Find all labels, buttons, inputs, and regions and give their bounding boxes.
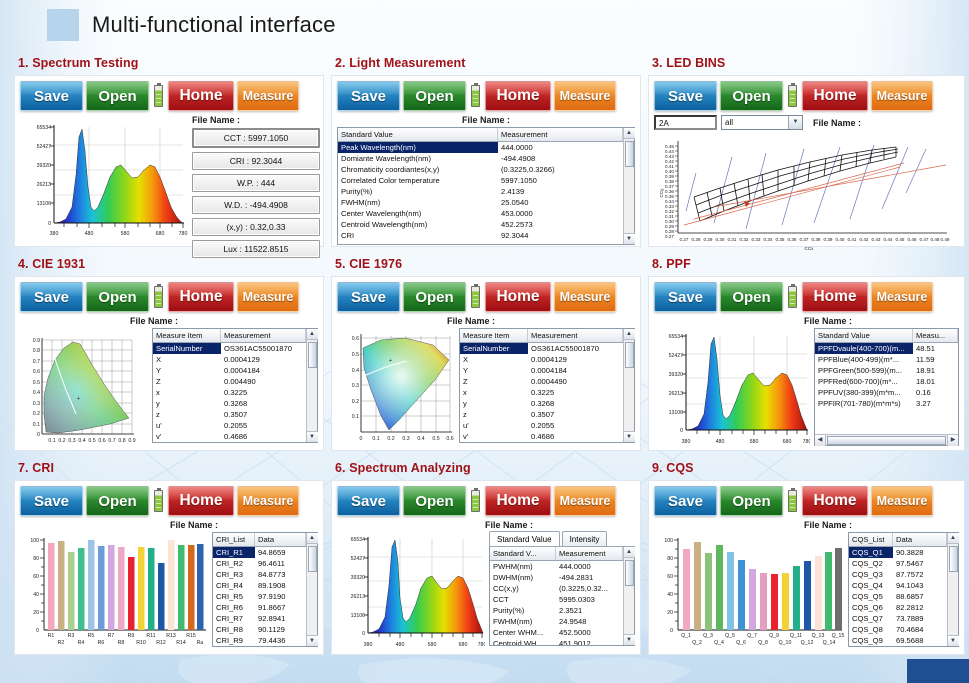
open-button[interactable]: Open <box>86 486 149 516</box>
table-header: Measure Item Measurement <box>153 329 306 343</box>
table-row[interactable]: v'0.4686 <box>460 431 623 442</box>
table-row[interactable]: PPFRed(600-700)(m*...18.01 <box>815 376 958 387</box>
table-header: Standard Value Measu... <box>815 329 958 343</box>
svg-text:0.3: 0.3 <box>402 436 409 442</box>
home-button[interactable]: Home <box>168 282 234 312</box>
scroll-down-icon[interactable]: ▼ <box>948 635 959 646</box>
corner-accent-block <box>907 659 969 683</box>
svg-text:Q_3: Q_3 <box>703 633 713 639</box>
scroll-left-icon[interactable]: ◀ <box>815 435 826 446</box>
svg-text:Q_2: Q_2 <box>692 640 702 646</box>
scroll-up-icon[interactable]: ▲ <box>624 128 635 139</box>
panel-title: 2. Light Measurement <box>335 56 641 70</box>
chevron-down-icon[interactable]: ▼ <box>788 116 802 129</box>
save-button[interactable]: Save <box>337 81 400 111</box>
svg-text:0.1: 0.1 <box>372 436 379 442</box>
tab-intensity[interactable]: Intensity <box>562 531 608 546</box>
table-row[interactable]: DWHM(nm)-494.2831 <box>490 572 623 583</box>
svg-text:26213: 26213 <box>669 391 684 397</box>
table-body: PPFDvaule(400-700)(m...48.51 PPFBlue(400… <box>815 343 958 434</box>
table-scrollbar[interactable]: ▲ ▼ <box>623 329 634 442</box>
svg-text:0: 0 <box>362 631 365 637</box>
table-row[interactable]: Peak Wavelength(nm)444.0000 <box>338 142 623 153</box>
scrollbar-thumb[interactable] <box>625 141 634 167</box>
home-button[interactable]: Home <box>802 486 868 516</box>
svg-text:0.34: 0.34 <box>764 237 773 242</box>
svg-text:R9: R9 <box>128 633 135 639</box>
svg-text:0.5: 0.5 <box>432 436 439 442</box>
svg-text:R6: R6 <box>98 640 105 646</box>
cie1931-table[interactable]: Measure Item Measurement SerialNumberOS3… <box>152 328 318 443</box>
table-row[interactable]: y0.3268 <box>153 398 306 409</box>
open-button[interactable]: Open <box>86 282 149 312</box>
svg-text:0.4: 0.4 <box>417 436 424 442</box>
file-name-label: File Name : <box>192 115 320 125</box>
svg-text:R13: R13 <box>166 633 176 639</box>
table-header: Standard Value Measurement <box>338 128 623 142</box>
table-header: CRI_List Data <box>213 533 306 547</box>
cqs-table[interactable]: CQS_List Data CQS_Q190.3828 CQS_Q297.546… <box>848 532 959 647</box>
svg-text:R11: R11 <box>146 633 155 639</box>
svg-text:0.41: 0.41 <box>848 237 857 242</box>
open-button[interactable]: Open <box>720 486 783 516</box>
table-row[interactable]: FWHM(nm)25.0540 <box>338 197 623 208</box>
save-button[interactable]: Save <box>20 486 83 516</box>
button-bar: Save Open Home Measure <box>654 282 959 312</box>
svg-text:0: 0 <box>36 628 39 634</box>
svg-text:0.48: 0.48 <box>931 237 940 242</box>
open-button[interactable]: Open <box>720 282 783 312</box>
svg-text:13106: 13106 <box>669 410 684 416</box>
table-row[interactable]: Y0.0004184 <box>153 365 306 376</box>
svg-text:580: 580 <box>750 439 759 445</box>
svg-text:0.37: 0.37 <box>800 237 809 242</box>
table-row[interactable]: Purity(%)2.3521 <box>490 605 623 616</box>
table-body: SerialNumberOS361AC55001870 X0.0004129 Y… <box>460 343 623 442</box>
scroll-right-icon[interactable]: ▶ <box>947 435 958 446</box>
svg-text:39320: 39320 <box>37 163 52 169</box>
button-bar: Save Open Home Measure <box>20 486 318 516</box>
svg-text:Q_9: Q_9 <box>769 633 779 639</box>
table-row[interactable]: Centroid Wavelength(nm)452.2573 <box>338 219 623 230</box>
readout-cri: CRI : 92.3044 <box>192 152 320 170</box>
table-scrollbar[interactable]: ▲ ▼ <box>947 533 958 646</box>
table-row[interactable]: CRI_R792.8941 <box>213 613 306 624</box>
svg-text:0: 0 <box>360 436 363 442</box>
svg-text:0.3: 0.3 <box>68 438 75 444</box>
panel-title: 1. Spectrum Testing <box>18 56 324 70</box>
scroll-down-icon[interactable]: ▼ <box>624 233 635 244</box>
svg-text:0.1: 0.1 <box>33 422 40 428</box>
scroll-down-icon[interactable]: ▼ <box>624 634 635 645</box>
save-button[interactable]: Save <box>337 282 400 312</box>
table-row[interactable]: CQS_Q773.7889 <box>849 613 947 624</box>
file-name-label: File Name : <box>804 316 959 326</box>
svg-text:R8: R8 <box>118 640 125 646</box>
svg-text:R1: R1 <box>48 633 55 639</box>
svg-text:0.2: 0.2 <box>33 411 40 417</box>
home-button[interactable]: Home <box>485 486 551 516</box>
scroll-down-icon[interactable]: ▼ <box>307 635 318 646</box>
panel-cie-1931: 4. CIE 1931 Save Open Home Measure File … <box>14 251 324 451</box>
svg-text:40: 40 <box>33 592 39 598</box>
svg-text:0.5: 0.5 <box>33 380 40 386</box>
scrollbar-thumb[interactable] <box>625 560 634 586</box>
save-button[interactable]: Save <box>654 486 717 516</box>
svg-text:13106: 13106 <box>351 613 366 619</box>
svg-text:0.29: 0.29 <box>704 237 713 242</box>
table-row[interactable]: Domiante Wavelength(nm)-494.4908 <box>338 153 623 164</box>
svg-text:480: 480 <box>716 439 725 445</box>
svg-text:80: 80 <box>33 556 39 562</box>
home-button[interactable]: Home <box>485 81 551 111</box>
svg-text:52427: 52427 <box>351 556 366 562</box>
column-header-cri-list: CRI_List <box>213 533 255 546</box>
ppf-table[interactable]: Standard Value Measu... PPFDvaule(400-70… <box>814 328 959 446</box>
open-button[interactable]: Open <box>86 81 149 111</box>
scrollbar-thumb[interactable] <box>827 436 946 445</box>
column-header-cqs-list: CQS_List <box>849 533 893 546</box>
table-body: CRI_R194.8659 CRI_R296.4611 CRI_R384.877… <box>213 547 306 646</box>
svg-text:52427: 52427 <box>37 144 52 150</box>
button-bar: Save Open Home Measure <box>337 282 635 312</box>
table-row[interactable]: CRI_R384.8773 <box>213 569 306 580</box>
table-row[interactable]: CCT5995.0303 <box>490 594 623 605</box>
tab-bar: Standard Value Intensity <box>489 531 635 546</box>
table-header: Standard V... Measurement <box>490 547 623 561</box>
svg-text:Q_10: Q_10 <box>779 640 792 646</box>
svg-text:Q_1: Q_1 <box>681 633 691 639</box>
table-row[interactable]: CQS_Q870.4684 <box>849 624 947 635</box>
table-row[interactable]: X0.0004129 <box>460 354 623 365</box>
svg-text:0.1: 0.1 <box>48 438 55 444</box>
table-row[interactable]: CRI_R194.8659 <box>213 547 306 558</box>
svg-text:0.2: 0.2 <box>58 438 65 444</box>
table-row[interactable]: y0.3268 <box>460 398 623 409</box>
svg-text:R14: R14 <box>176 640 186 646</box>
scroll-up-icon[interactable]: ▲ <box>624 329 635 340</box>
svg-text:CCx: CCx <box>805 246 815 251</box>
table-row[interactable]: CRI_R979.4436 <box>213 635 306 646</box>
table-row[interactable]: CQS_Q682.2812 <box>849 602 947 613</box>
open-button[interactable]: Open <box>720 81 783 111</box>
save-button[interactable]: Save <box>20 282 83 312</box>
panel-cri: 7. CRI Save Open Home Measure File Name … <box>14 455 324 655</box>
scroll-up-icon[interactable]: ▲ <box>948 533 959 544</box>
table-row[interactable]: Correlated Color temperature5997.1050 <box>338 175 623 186</box>
table-row[interactable]: CC(x,y)(0.3225,0.32... <box>490 583 623 594</box>
cri-table[interactable]: CRI_List Data CRI_R194.8659 CRI_R296.461… <box>212 532 318 647</box>
svg-text:R12: R12 <box>156 640 166 646</box>
svg-text:0.5: 0.5 <box>88 438 95 444</box>
bin-filter-select[interactable]: all ▼ <box>721 115 803 130</box>
scrollbar-thumb[interactable] <box>308 342 317 368</box>
spectrum-analyzing-table[interactable]: Standard V... Measurement PWHM(nm)444.00… <box>489 546 635 646</box>
column-header-measurement: Measurement <box>498 128 623 141</box>
measurement-table[interactable]: Standard Value Measurement Peak Waveleng… <box>337 127 635 245</box>
table-row[interactable]: CQS_Q387.7572 <box>849 569 947 580</box>
svg-text:0: 0 <box>680 428 683 434</box>
svg-text:0.35: 0.35 <box>776 237 785 242</box>
table-scrollbar[interactable]: ▲ ▼ <box>306 329 317 442</box>
scroll-up-icon[interactable]: ▲ <box>307 329 318 340</box>
table-header: CQS_List Data <box>849 533 947 547</box>
svg-text:0.4: 0.4 <box>352 368 359 374</box>
table-scrollbar[interactable]: ▲ ▼ <box>623 547 634 645</box>
battery-icon <box>788 490 797 512</box>
svg-text:780: 780 <box>803 439 810 445</box>
svg-text:0.43: 0.43 <box>872 237 881 242</box>
file-name-label: File Name : <box>813 118 861 128</box>
save-button[interactable]: Save <box>654 282 717 312</box>
panel-cie-1976: 5. CIE 1976 Save Open Home Measure File … <box>331 251 641 451</box>
home-button[interactable]: Home <box>168 486 234 516</box>
svg-text:0.9: 0.9 <box>33 338 40 344</box>
svg-text:0.7: 0.7 <box>33 359 40 365</box>
svg-text:0.2: 0.2 <box>352 399 359 405</box>
scrollbar-thumb[interactable] <box>308 546 317 572</box>
file-name-label: File Name : <box>170 520 318 530</box>
table-row[interactable]: Lumen11522.85 <box>338 241 623 244</box>
svg-text:26213: 26213 <box>351 594 366 600</box>
cqs-bar-chart: 1008060 40200 <box>654 532 844 652</box>
table-row[interactable]: CRI_R489.1908 <box>213 580 306 591</box>
file-name-label: File Name : <box>485 520 635 530</box>
battery-icon <box>471 286 480 308</box>
panel-title: 8. PPF <box>652 257 965 271</box>
svg-text:0.4: 0.4 <box>78 438 85 444</box>
table-row[interactable]: u'0.2055 <box>153 420 306 431</box>
file-name-label: File Name : <box>337 115 635 125</box>
scroll-down-icon[interactable]: ▼ <box>307 431 318 442</box>
svg-text:480: 480 <box>396 642 405 648</box>
svg-text:0.31: 0.31 <box>728 237 737 242</box>
table-row[interactable]: PWHM(nm)444.0000 <box>490 561 623 572</box>
cie1976-table[interactable]: Measure Item Measurement SerialNumberOS3… <box>459 328 635 443</box>
measure-button[interactable]: Measure <box>237 282 299 312</box>
table-body: Peak Wavelength(nm)444.0000 Domiante Wav… <box>338 142 623 244</box>
scroll-down-icon[interactable]: ▼ <box>624 431 635 442</box>
panel-title: 6. Spectrum Analyzing <box>335 461 641 475</box>
button-bar: Save Open Home Measure <box>654 486 959 516</box>
svg-text:380: 380 <box>682 439 691 445</box>
svg-text:Q_11: Q_11 <box>790 633 802 639</box>
table-row[interactable]: CQS_Q297.5467 <box>849 558 947 569</box>
measure-button[interactable]: Measure <box>554 486 616 516</box>
svg-text:480: 480 <box>85 231 94 237</box>
svg-text:0.36: 0.36 <box>788 237 797 242</box>
readout-cct: CCT : 5997.1050 <box>192 128 320 148</box>
measure-button[interactable]: Measure <box>871 282 933 312</box>
svg-text:0.6: 0.6 <box>352 336 359 342</box>
open-button[interactable]: Open <box>403 486 466 516</box>
table-row[interactable]: CQS_Q969.5688 <box>849 635 947 646</box>
table-row[interactable]: CRI_R597.9190 <box>213 591 306 602</box>
save-button[interactable]: Save <box>20 81 83 111</box>
panel-grid: 1. Spectrum Testing Save Open Home Measu… <box>0 50 969 659</box>
svg-text:Q_14: Q_14 <box>823 640 836 646</box>
save-button[interactable]: Save <box>654 81 717 111</box>
table-row[interactable]: X0.0004129 <box>153 354 306 365</box>
table-row[interactable]: Y0.0004184 <box>460 365 623 376</box>
button-bar: Save Open Home Measure <box>20 282 318 312</box>
measure-button[interactable]: Measure <box>554 81 616 111</box>
spectrum-chart: 65534 52427 39320 26213 13106 0 380 480 … <box>20 115 188 258</box>
bin-filter-value: all <box>725 118 733 127</box>
save-button[interactable]: Save <box>337 486 400 516</box>
button-bar: Save Open Home Measure <box>337 81 635 111</box>
button-bar: Save Open Home Measure <box>20 81 318 111</box>
table-row[interactable]: x0.3225 <box>460 387 623 398</box>
scrollbar-thumb[interactable] <box>949 546 958 572</box>
table-scrollbar[interactable]: ▲ ▼ <box>623 128 634 244</box>
table-row[interactable]: x0.3225 <box>153 387 306 398</box>
svg-text:65534: 65534 <box>37 125 52 131</box>
battery-icon <box>154 85 163 107</box>
column-header-measurement: Measurement <box>556 547 623 560</box>
table-body: SerialNumberOS361AC55001870 X0.0004129 Y… <box>153 343 306 442</box>
table-row[interactable]: Z0.0004490 <box>460 376 623 387</box>
table-row[interactable]: v'0.4686 <box>153 431 306 442</box>
table-row[interactable]: SerialNumberOS361AC55001870 <box>153 343 306 354</box>
open-button[interactable]: Open <box>403 81 466 111</box>
table-row[interactable]: z0.3507 <box>153 409 306 420</box>
table-row[interactable]: CQS_Q588.6857 <box>849 591 947 602</box>
table-row[interactable]: Center Wavelength(nm)453.0000 <box>338 208 623 219</box>
battery-icon <box>788 286 797 308</box>
panel-cqs: 9. CQS Save Open Home Measure File Name … <box>648 455 965 655</box>
svg-text:0: 0 <box>48 221 51 227</box>
svg-text:0.28: 0.28 <box>692 237 701 242</box>
measure-button[interactable]: Measure <box>871 486 933 516</box>
measure-button[interactable]: Measure <box>871 81 933 111</box>
measure-button[interactable]: Measure <box>554 282 616 312</box>
table-row[interactable]: Center WHM...452.5000 <box>490 627 623 638</box>
table-row[interactable]: Z0.004490 <box>153 376 306 387</box>
column-header-measurement: Measurement <box>528 329 623 342</box>
svg-text:0: 0 <box>37 432 40 438</box>
svg-text:0.8: 0.8 <box>33 348 40 354</box>
svg-text:0.6: 0.6 <box>33 369 40 375</box>
battery-icon <box>471 490 480 512</box>
home-button[interactable]: Home <box>802 81 868 111</box>
table-row[interactable]: CRI_R691.8667 <box>213 602 306 613</box>
svg-text:0.5: 0.5 <box>352 352 359 358</box>
svg-text:0.3: 0.3 <box>352 383 359 389</box>
readout-list: CCT : 5997.1050 CRI : 92.3044 W.P. : 444… <box>192 125 320 258</box>
svg-text:0.45: 0.45 <box>896 237 905 242</box>
svg-text:60: 60 <box>667 574 673 580</box>
button-bar: Save Open Home Measure <box>654 81 959 111</box>
readout-wd: W.D. : -494.4908 <box>192 196 320 214</box>
svg-text:R15: R15 <box>186 633 196 639</box>
tab-standard-value[interactable]: Standard Value <box>489 531 560 546</box>
svg-text:R10: R10 <box>136 640 146 646</box>
table-row[interactable]: PPFBlue(400-499)(m*...11.59 <box>815 354 958 365</box>
svg-text:65534: 65534 <box>351 537 366 543</box>
svg-text:0.6: 0.6 <box>98 438 105 444</box>
file-name-label: File Name : <box>804 520 959 530</box>
svg-text:0: 0 <box>670 628 673 634</box>
table-hscrollbar[interactable]: ◀ ▶ <box>815 434 958 445</box>
svg-text:+: + <box>389 358 392 364</box>
column-header-data: Data <box>255 533 306 546</box>
table-row[interactable]: z0.3507 <box>460 409 623 420</box>
battery-icon <box>788 85 797 107</box>
table-row[interactable]: CRI92.3044 <box>338 230 623 241</box>
svg-text:100: 100 <box>30 538 39 544</box>
column-header-measure-item: Measure Item <box>460 329 528 342</box>
svg-text:Ra: Ra <box>197 640 204 646</box>
column-header-standard-value: Standard Value <box>338 128 498 141</box>
table-row[interactable]: u'0.2055 <box>460 420 623 431</box>
cie1976-diagram: + 0.60.50.4 0.30.20.1 00.10.2 0.30.40.5 … <box>337 328 455 446</box>
battery-icon <box>154 490 163 512</box>
home-button[interactable]: Home <box>485 282 551 312</box>
svg-text:R4: R4 <box>78 640 85 646</box>
table-row[interactable]: PPFDvaule(400-700)(m...48.51 <box>815 343 958 354</box>
table-row[interactable]: PPFUV(380-399)(m*m...0.16 <box>815 387 958 398</box>
table-row[interactable]: CRI_R296.4611 <box>213 558 306 569</box>
svg-text:60: 60 <box>33 574 39 580</box>
table-row[interactable]: FWHM(nm)24.9548 <box>490 616 623 627</box>
file-name-label: File Name : <box>130 316 318 326</box>
svg-text:100: 100 <box>664 538 673 544</box>
svg-text:65534: 65534 <box>669 334 684 340</box>
measure-button[interactable]: Measure <box>237 81 299 111</box>
cri-bar-chart: 1008060 40200 <box>20 532 208 652</box>
file-name-label: File Name : <box>447 316 635 326</box>
home-button[interactable]: Home <box>168 81 234 111</box>
svg-text:20: 20 <box>33 610 39 616</box>
svg-text:0.38: 0.38 <box>812 237 821 242</box>
open-button[interactable]: Open <box>403 282 466 312</box>
scroll-up-icon[interactable]: ▲ <box>624 547 635 558</box>
table-row[interactable]: Centroid WH...451.9012 <box>490 638 623 645</box>
table-body: CQS_Q190.3828 CQS_Q297.5467 CQS_Q387.757… <box>849 547 947 646</box>
table-scrollbar[interactable]: ▲ ▼ <box>306 533 317 646</box>
table-row[interactable]: PPFGreen(500-599)(m...18.91 <box>815 365 958 376</box>
table-row[interactable]: PPFIR(701-780)(m*m*s)3.27 <box>815 398 958 409</box>
panel-light-measurement: 2. Light Measurement Save Open Home Meas… <box>331 50 641 247</box>
table-row[interactable]: CQS_Q190.3828 <box>849 547 947 558</box>
table-row[interactable]: CQS_Q494.1043 <box>849 580 947 591</box>
readout-xy: (x,y) : 0.32,0.33 <box>192 218 320 236</box>
svg-text:780: 780 <box>478 642 485 648</box>
table-row[interactable]: Purity(%)2.4139 <box>338 186 623 197</box>
svg-text:0.49: 0.49 <box>941 237 950 242</box>
panel-spectrum-analyzing: 6. Spectrum Analyzing Save Open Home Mea… <box>331 455 641 655</box>
svg-text:40: 40 <box>667 592 673 598</box>
svg-text:0.39: 0.39 <box>824 237 833 242</box>
svg-text:0.33: 0.33 <box>752 237 761 242</box>
table-row[interactable]: Chromaticity coordiantes(x,y)(0.3225,0.3… <box>338 164 623 175</box>
panel-ppf: 8. PPF Save Open Home Measure File Name … <box>648 251 965 451</box>
bin-code-input[interactable]: 2A <box>654 115 717 130</box>
svg-text:680: 680 <box>156 231 165 237</box>
measure-button[interactable]: Measure <box>237 486 299 516</box>
scroll-up-icon[interactable]: ▲ <box>307 533 318 544</box>
svg-text:680: 680 <box>783 439 792 445</box>
table-header: Measure Item Measurement <box>460 329 623 343</box>
scrollbar-thumb[interactable] <box>625 342 634 368</box>
svg-text:0.27: 0.27 <box>680 237 689 242</box>
svg-text:R7: R7 <box>108 633 115 639</box>
table-row[interactable]: SerialNumberOS361AC55001870 <box>460 343 623 354</box>
table-row[interactable]: CRI_R890.1129 <box>213 624 306 635</box>
svg-text:380: 380 <box>50 231 59 237</box>
home-button[interactable]: Home <box>802 282 868 312</box>
